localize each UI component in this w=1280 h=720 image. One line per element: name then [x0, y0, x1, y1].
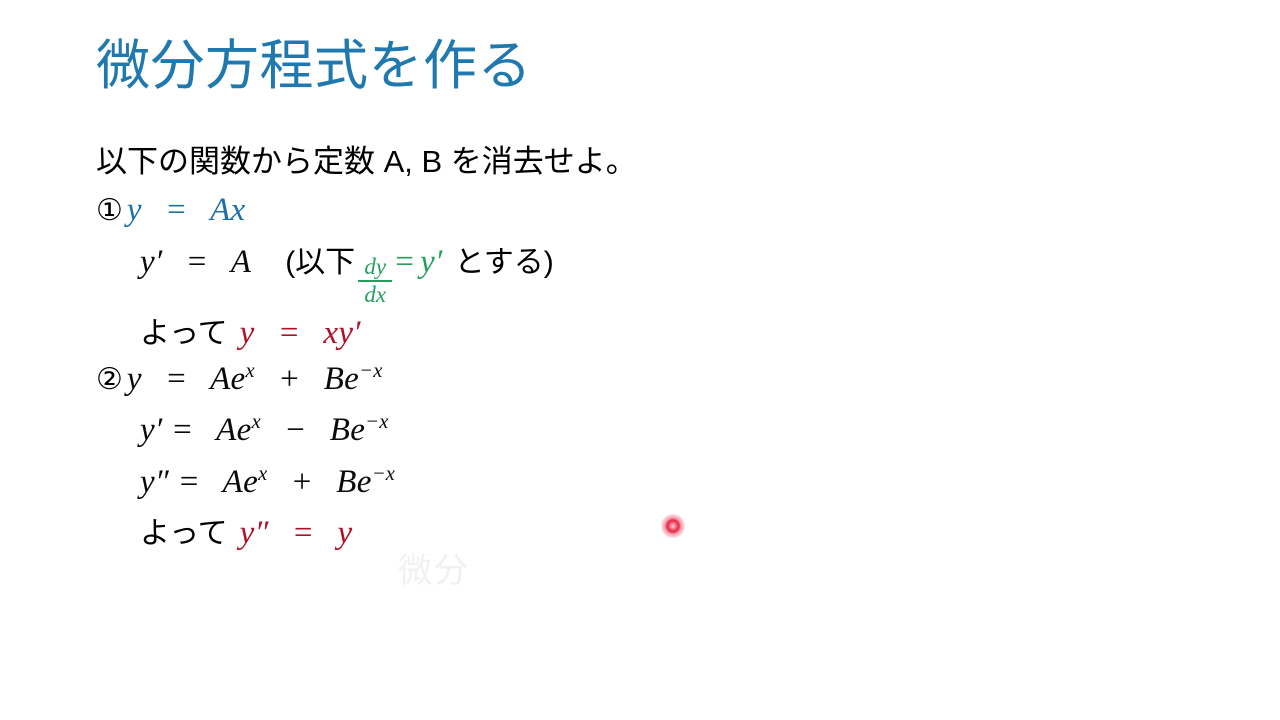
item-1-step-2: よって y = xy′: [96, 311, 1196, 357]
page-title: 微分方程式を作る: [96, 36, 532, 96]
item-2-step-2: y″ = Aex + Be−x: [96, 460, 1196, 506]
conc1-rhs: xy: [323, 315, 353, 351]
eq2-term1-coef: Ae: [210, 361, 245, 397]
step1-note-open: (以下: [285, 242, 355, 283]
item-2-step-3: よって y″ = y: [96, 511, 1196, 557]
s2d1-term2-coef: Be: [330, 412, 365, 448]
fraction-denominator: dx: [362, 283, 388, 307]
item-1-line: ① y = Ax: [96, 188, 1196, 234]
conc2-prime: ″: [255, 515, 269, 551]
s2d2-prime: ″: [155, 464, 169, 500]
step1-note-close: とする): [455, 242, 554, 283]
eq1-rhs: Ax: [210, 192, 245, 228]
conclusion-1-label: よって: [140, 313, 228, 354]
step1-rhs: A: [231, 244, 251, 280]
step1-equals: =: [186, 244, 209, 280]
step1-note-equals: =: [395, 240, 414, 286]
s2d1-equals: =: [171, 412, 194, 448]
step1-note-y: y: [420, 244, 435, 280]
s2d2-lhs: y: [140, 464, 155, 500]
s2d1-term1-coef: Ae: [216, 412, 251, 448]
eq1-lhs: y: [127, 192, 142, 228]
item-1-step-1: y′ = A (以下 dy dx = y′ とする): [96, 240, 1196, 306]
conc1-prime: ′: [353, 315, 361, 351]
fraction-dy-dx: dy dx: [358, 255, 392, 308]
step1-note-rhs: y′: [420, 240, 442, 286]
item-2-step-1: y′ = Aex − Be−x: [96, 408, 1196, 454]
s2d2-operator: +: [291, 464, 314, 500]
item-2-line: ② y = Aex + Be−x: [96, 357, 1196, 403]
s2d1-term1-exponent: x: [252, 411, 261, 433]
eq2-lhs: y: [127, 361, 142, 397]
step1-lhs: y: [140, 244, 155, 280]
s2d1-operator: −: [284, 412, 307, 448]
instruction-line: 以下の関数から定数 A, B を消去せよ。: [96, 140, 1196, 184]
item-1-equation: y = Ax: [127, 188, 246, 234]
step1-prime: ′: [155, 244, 163, 280]
step1-derivative: y′ = A: [140, 240, 251, 286]
s2d2-term1-exponent: x: [258, 463, 267, 485]
instruction-text: 以下の関数から定数 A, B を消去せよ。: [96, 140, 637, 184]
eq1-equals: =: [165, 192, 188, 228]
eq2-equals: =: [165, 361, 188, 397]
conc2-rhs: y: [337, 515, 352, 551]
s2d2-term2-exponent: −x: [372, 463, 395, 485]
conc2-equals: =: [292, 515, 315, 551]
conc1-equals: =: [278, 315, 301, 351]
s2d2-equals: =: [178, 464, 201, 500]
laser-pointer-dot: [661, 514, 685, 538]
ghost-artifact-text: 微分: [398, 543, 470, 592]
step1-note-prime: ′: [435, 244, 443, 280]
eq2-term2-coef: Be: [324, 361, 359, 397]
conc1-lhs: y: [240, 315, 255, 351]
s2d2-term1-coef: Ae: [223, 464, 258, 500]
conclusion-2-label: よって: [140, 513, 228, 554]
slide-canvas: 微分方程式を作る 以下の関数から定数 A, B を消去せよ。 ① y = Ax …: [0, 0, 1280, 720]
eq2-operator: +: [278, 361, 301, 397]
slide-body: 以下の関数から定数 A, B を消去せよ。 ① y = Ax y′ = A: [96, 140, 1196, 557]
step2-first-derivative: y′ = Aex − Be−x: [140, 408, 389, 454]
item-2-marker: ②: [96, 359, 123, 400]
conclusion-2-equation: y″ = y: [240, 511, 353, 557]
eq2-term1-exponent: x: [246, 360, 255, 382]
s2d1-lhs: y: [140, 412, 155, 448]
item-1-marker: ①: [96, 190, 123, 231]
s2d1-term2-exponent: −x: [365, 411, 388, 433]
step2-second-derivative: y″ = Aex + Be−x: [140, 460, 395, 506]
item-2-equation: y = Aex + Be−x: [127, 357, 383, 403]
conc2-lhs: y: [240, 515, 255, 551]
s2d2-term2-coef: Be: [336, 464, 371, 500]
s2d1-prime: ′: [155, 412, 163, 448]
eq2-term2-exponent: −x: [359, 360, 382, 382]
fraction-numerator: dy: [362, 255, 388, 279]
conclusion-1-equation: y = xy′: [240, 311, 361, 357]
